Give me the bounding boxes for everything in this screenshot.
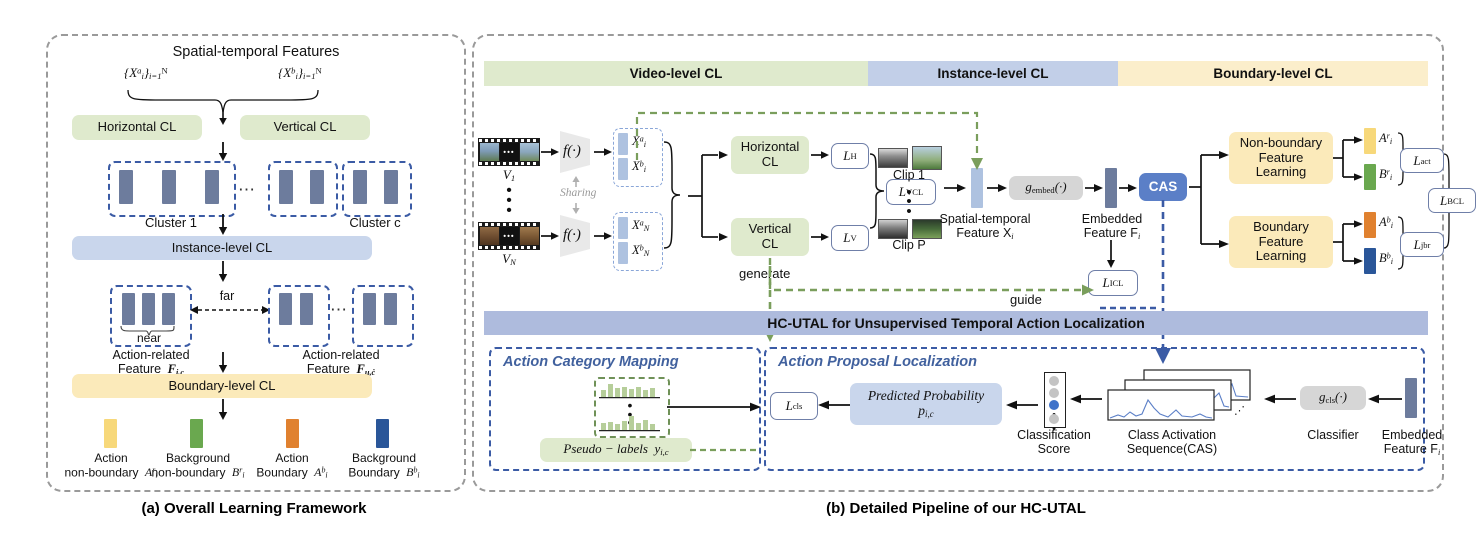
feature-bar: [142, 293, 155, 325]
arrow-embedded2-to-classifier: [1368, 392, 1402, 406]
classifier-label: Classifier: [1296, 428, 1370, 442]
score-dot: [1049, 414, 1059, 424]
action-feature-box-2: [268, 285, 330, 347]
feature-bar: [279, 293, 292, 325]
header-instance-level-cl: Instance-level CL: [868, 61, 1118, 86]
feature-bar: [363, 293, 376, 325]
legend-swatch-action-boundary: [286, 419, 299, 448]
header-video-level-cl: Video-level CL: [484, 61, 868, 86]
embedded-feature-2-label: Embedded Feature Fi: [1368, 428, 1456, 458]
feature-bar: [384, 293, 397, 325]
panel-a-boundary-cl: Boundary-level CL: [72, 374, 372, 398]
pseudo-histogram-top: [598, 379, 662, 399]
cas-plot-label: Class ActivationSequence(CAS): [1094, 428, 1250, 457]
arrow-to-boundary-cl: [216, 352, 230, 374]
cluster-bar: [353, 170, 367, 204]
feature-ellipsis: ⋯: [330, 300, 347, 320]
cas-plot-stack: ⋰: [1106, 368, 1258, 430]
legend-swatch-background-nonboundary: [190, 419, 203, 448]
feature-set-a: {Xai}i=1N: [124, 66, 168, 82]
feature-bar: [300, 293, 313, 325]
panel-a-horizontal-cl: Horizontal CL: [72, 115, 202, 140]
arrow-acm-to-lcls: [667, 400, 763, 414]
legend-label-background-nonboundary: Background non-boundary Bri: [146, 452, 250, 480]
hc-utal-banner: HC-UTAL for Unsupervised Temporal Action…: [484, 311, 1428, 335]
panel-a-title: Spatial-temporal Features: [106, 44, 406, 61]
arrow-to-legend: [216, 399, 230, 421]
arrow-to-features: [216, 261, 230, 283]
cluster-bar: [310, 170, 324, 204]
far-arrow: [190, 303, 270, 317]
cluster-bar: [119, 170, 133, 204]
near-label: near: [120, 332, 178, 346]
panel-a-vertical-cl: Vertical CL: [240, 115, 370, 140]
action-category-mapping-title: Action Category Mapping: [503, 354, 679, 370]
action-feature-box-3: [352, 285, 414, 347]
cluster-bar: [205, 170, 219, 204]
merge-arrow-down: [216, 110, 230, 126]
guide-label: guide: [1010, 293, 1042, 308]
arrow-prob-to-lcls: [818, 398, 850, 412]
arrow-cas-to-score: [1070, 392, 1102, 406]
legend-label-background-boundary: Background Boundary Bbi: [336, 452, 432, 480]
cluster-1-label: Cluster 1: [118, 216, 224, 231]
cluster-bar: [384, 170, 398, 204]
pseudo-labels-box: Pseudo − labels yi,c: [540, 438, 692, 462]
legend-swatch-action-nonboundary: [104, 419, 117, 448]
score-dot: [1049, 388, 1059, 398]
arrow-score-to-prob: [1006, 398, 1038, 412]
cluster-c-label: Cluster c: [322, 216, 428, 231]
loss-lcls-box: Lcls: [770, 392, 818, 420]
score-dot: [1049, 376, 1059, 386]
header-boundary-level-cl: Boundary-level CL: [1118, 61, 1428, 86]
arrow-to-instance-cl: [216, 214, 230, 236]
action-proposal-localization-title: Action Proposal Localization: [778, 354, 977, 370]
feature-bar: [122, 293, 135, 325]
svg-text:⋰: ⋰: [1234, 405, 1245, 417]
panel-a-caption: (a) Overall Learning Framework: [46, 500, 462, 517]
arrow-to-clusters: [216, 142, 230, 162]
panel-a-instance-cl: Instance-level CL: [72, 236, 372, 260]
feature-bar: [162, 293, 175, 325]
cluster-bar: [279, 170, 293, 204]
pseudo-histogram-bottom: [598, 412, 662, 432]
cluster-bar: [162, 170, 176, 204]
legend-swatch-background-boundary: [376, 419, 389, 448]
feature-set-b: {Xbi}i=1N: [278, 66, 322, 82]
g-cls-box: gcls(·): [1300, 386, 1366, 410]
legend-label-action-boundary: Action Boundary Abi: [246, 452, 338, 480]
panel-b-caption: (b) Detailed Pipeline of our HC-UTAL: [472, 500, 1440, 517]
cluster-ellipsis: ⋯: [238, 180, 255, 200]
arrow-classifier-to-cas: [1264, 392, 1296, 406]
predicted-probability-box: Predicted Probability pi,c: [850, 383, 1002, 425]
far-label: far: [192, 289, 262, 303]
classification-score-label: ClassificationScore: [1006, 428, 1102, 457]
embedded-feature-bar-2: [1405, 378, 1417, 418]
blue-path-cas-to-apl: [1140, 200, 1180, 370]
